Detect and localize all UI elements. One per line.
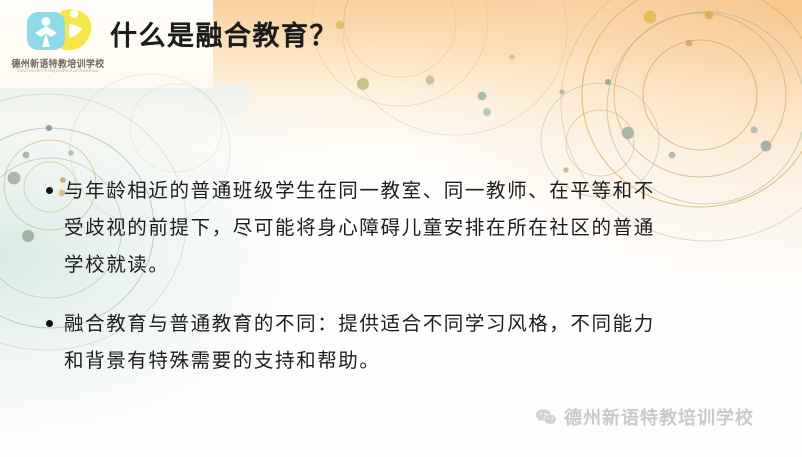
bullet-line: 受歧视的前提下，尽可能将身心障碍儿童安排在所在社区的普通 <box>64 209 770 246</box>
logo-school-name: 德州新语特教培训学校 <box>9 56 107 70</box>
bullet-line: 和背景有特殊需要的支持和帮助。 <box>64 342 770 379</box>
bullet-line: 融合教育与普通教育的不同：提供适合不同学习风格，不同能力 <box>64 305 770 342</box>
bullet-dot-icon <box>46 187 53 194</box>
wechat-icon <box>535 408 557 427</box>
bullet-line: 学校就读。 <box>64 246 770 283</box>
bullet-dot-icon <box>46 320 53 327</box>
footer-watermark: 德州新语特教培训学校 <box>535 404 754 430</box>
logo-mark-icon <box>24 6 94 56</box>
list-item: 融合教育与普通教育的不同：提供适合不同学习风格，不同能力 和背景有特殊需要的支持… <box>44 305 770 379</box>
list-item: 与年龄相近的普通班级学生在同一教室、同一教师、在平等和不 受歧视的前提下，尽可能… <box>44 172 770 283</box>
watermark-text: 德州新语特教培训学校 <box>564 404 754 430</box>
page-title: 什么是融合教育？ <box>110 22 338 52</box>
bullet-line: 与年龄相近的普通班级学生在同一教室、同一教师、在平等和不 <box>64 172 770 209</box>
background-left-band <box>0 86 250 146</box>
content-body: 与年龄相近的普通班级学生在同一教室、同一教师、在平等和不 受歧视的前提下，尽可能… <box>44 172 770 401</box>
slide-canvas: 德州新语特教培训学校 DeZhouXinYuTeJiaoPeiXunXueXia… <box>0 0 802 457</box>
logo-school-pinyin: DeZhouXinYuTeJiaoPeiXunXueXiao <box>6 69 110 74</box>
school-logo: 德州新语特教培训学校 DeZhouXinYuTeJiaoPeiXunXueXia… <box>6 4 110 86</box>
